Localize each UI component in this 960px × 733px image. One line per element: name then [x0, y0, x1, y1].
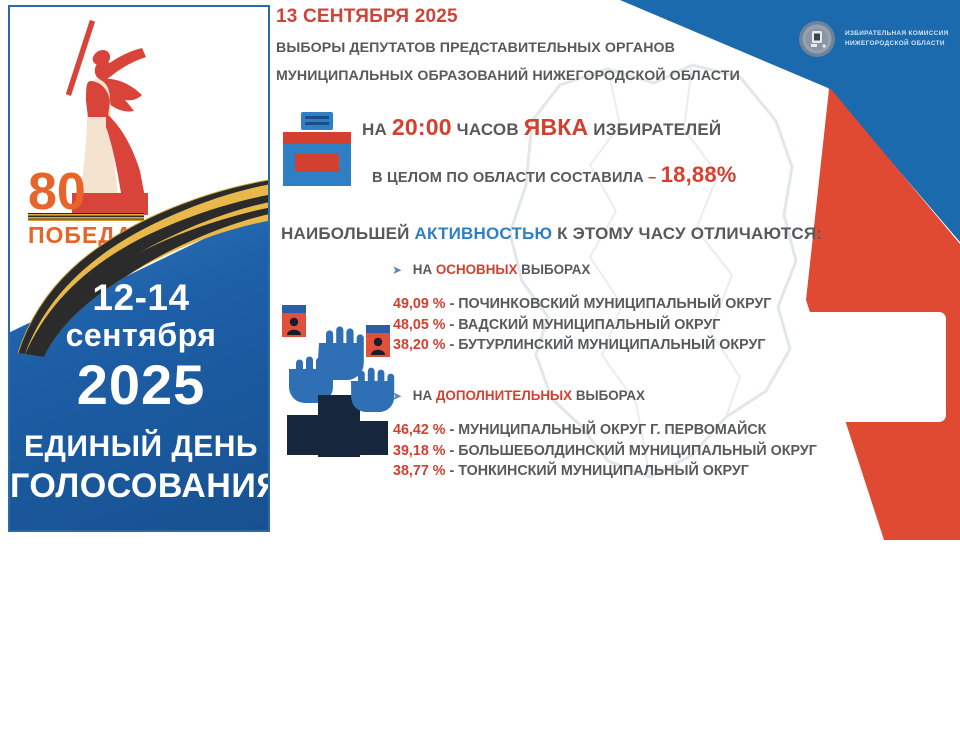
row-dash: -	[449, 422, 454, 438]
add-bullet-prefix: НА	[413, 388, 432, 403]
district-name: ВАДСКИЙ МУНИЦИПАЛЬНЫЙ ОКРУГ	[458, 317, 720, 333]
row-dash: -	[449, 443, 454, 459]
ballot-box-icon	[281, 110, 353, 188]
list-item: 48,05 % - ВАДСКИЙ МУНИЦИПАЛЬНЫЙ ОКРУГ	[393, 315, 771, 336]
main-elections-list: 49,09 % - ПОЧИНКОВСКИЙ МУНИЦИПАЛЬНЫЙ ОКР…	[393, 294, 771, 356]
turnout-percent: 38,20 %	[393, 337, 445, 353]
turnout-percent: 46,42 %	[393, 422, 445, 438]
row-dash: -	[449, 296, 454, 312]
poster-line2: ГОЛОСОВАНИЯ	[10, 469, 270, 503]
main-elections-bullet: ➤ НА ОСНОВНЫХ ВЫБОРАХ	[392, 262, 590, 277]
additional-elections-bullet: ➤ НА ДОПОЛНИТЕЛЬНЫХ ВЫБОРАХ	[392, 388, 645, 403]
row-dash: -	[449, 337, 454, 353]
poster-dates: 12-14	[10, 279, 270, 316]
list-item: 38,20 % - БУТУРЛИНСКИЙ МУНИЦИПАЛЬНЫЙ ОКР…	[393, 335, 771, 356]
turnout-prefix: НА	[362, 120, 387, 139]
district-name: БОЛЬШЕБОЛДИНСКИЙ МУНИЦИПАЛЬНЫЙ ОКРУГ	[458, 443, 817, 459]
election-commission-emblem	[798, 20, 836, 58]
district-name: МУНИЦИПАЛЬНЫЙ ОКРУГ Г. ПЕРВОМАЙСК	[458, 422, 766, 438]
main-bullet-suffix: ВЫБОРАХ	[521, 262, 590, 277]
bullet-arrow-icon: ➤	[392, 389, 402, 403]
list-item: 39,18 % - БОЛЬШЕБОЛДИНСКИЙ МУНИЦИПАЛЬНЫЙ…	[393, 441, 817, 462]
turnout-percent: 49,09 %	[393, 296, 445, 312]
turnout-percent: 48,05 %	[393, 317, 445, 333]
commission-name-line-1: ИЗБИРАТЕЛЬНАЯ КОМИССИЯ	[845, 29, 949, 39]
election-date: 13 СЕНТЯБРЯ 2025	[276, 6, 458, 28]
row-dash: -	[449, 317, 454, 333]
activity-heading: НАИБОЛЬШЕЙ АКТИВНОСТЬЮ К ЭТОМУ ЧАСУ ОТЛИ…	[281, 224, 822, 244]
turnout-line-1: НА 20:00 ЧАСОВ ЯВКА ИЗБИРАТЕЛЕЙ	[362, 114, 721, 141]
add-bullet-suffix: ВЫБОРАХ	[576, 388, 645, 403]
additional-elections-list: 46,42 % - МУНИЦИПАЛЬНЫЙ ОКРУГ Г. ПЕРВОМА…	[393, 420, 817, 482]
commission-name: ИЗБИРАТЕЛЬНАЯ КОМИССИЯ НИЖЕГОРОДСКОЙ ОБЛ…	[845, 29, 949, 49]
list-item: 46,42 % - МУНИЦИПАЛЬНЫЙ ОКРУГ Г. ПЕРВОМА…	[393, 420, 817, 441]
infographic-poster: 80 ПОБЕДА!	[0, 0, 960, 540]
turnout-keyword: ЯВКА	[524, 114, 589, 140]
voter-badge-icon	[366, 325, 390, 357]
row-dash: -	[449, 463, 454, 479]
list-item: 49,09 % - ПОЧИНКОВСКИЙ МУНИЦИПАЛЬНЫЙ ОКР…	[393, 294, 771, 315]
add-bullet-highlight: ДОПОЛНИТЕЛЬНЫХ	[436, 388, 572, 403]
district-name: БУТУРЛИНСКИЙ МУНИЦИПАЛЬНЫЙ ОКРУГ	[458, 337, 765, 353]
turnout-middle: ЧАСОВ	[457, 120, 519, 139]
turnout-line-2: В ЦЕЛОМ ПО ОБЛАСТИ СОСТАВИЛА – 18,88%	[372, 162, 737, 188]
activity-part-2: К ЭТОМУ ЧАСУ ОТЛИЧАЮТСЯ:	[557, 224, 822, 243]
poster-year: 2025	[10, 357, 270, 413]
district-name: ПОЧИНКОВСКИЙ МУНИЦИПАЛЬНЫЙ ОКРУГ	[458, 296, 771, 312]
turnout-value: 18,88%	[661, 162, 737, 187]
turnout-region-prefix: В ЦЕЛОМ ПО ОБЛАСТИ СОСТАВИЛА	[372, 170, 644, 186]
activity-highlight: АКТИВНОСТЬЮ	[415, 224, 553, 243]
list-item: 38,77 % - ТОНКИНСКИЙ МУНИЦИПАЛЬНЫЙ ОКРУГ	[393, 461, 817, 482]
district-name: ТОНКИНСКИЙ МУНИЦИПАЛЬНЫЙ ОКРУГ	[458, 463, 749, 479]
poster-month: сентября	[10, 319, 270, 351]
turnout-suffix: ИЗБИРАТЕЛЕЙ	[593, 120, 721, 139]
activity-part-1: НАИБОЛЬШЕЙ	[281, 224, 410, 243]
commission-branding: ИЗБИРАТЕЛЬНАЯ КОМИССИЯ НИЖЕГОРОДСКОЙ ОБЛ…	[798, 20, 949, 58]
victory-day-poster-panel: 80 ПОБЕДА!	[8, 5, 270, 532]
voter-badge-icon	[282, 305, 306, 337]
main-bullet-prefix: НА	[413, 262, 432, 277]
turnout-time: 20:00	[392, 114, 452, 140]
header-line-1: ВЫБОРЫ ДЕПУТАТОВ ПРЕДСТАВИТЕЛЬНЫХ ОРГАНО…	[276, 40, 675, 56]
qr-social-card	[798, 312, 946, 422]
poster-line1: ЕДИНЫЙ ДЕНЬ	[10, 432, 270, 462]
main-bullet-highlight: ОСНОВНЫХ	[436, 262, 518, 277]
raised-hands-illustration	[277, 303, 399, 493]
header-line-2: МУНИЦИПАЛЬНЫХ ОБРАЗОВАНИЙ НИЖЕГОРОДСКОЙ …	[276, 68, 740, 84]
bullet-arrow-icon: ➤	[392, 263, 402, 277]
turnout-percent: 38,77 %	[393, 463, 445, 479]
turnout-percent: 39,18 %	[393, 443, 445, 459]
commission-name-line-2: НИЖЕГОРОДСКОЙ ОБЛАСТИ	[845, 39, 949, 49]
turnout-dash: –	[648, 170, 656, 186]
